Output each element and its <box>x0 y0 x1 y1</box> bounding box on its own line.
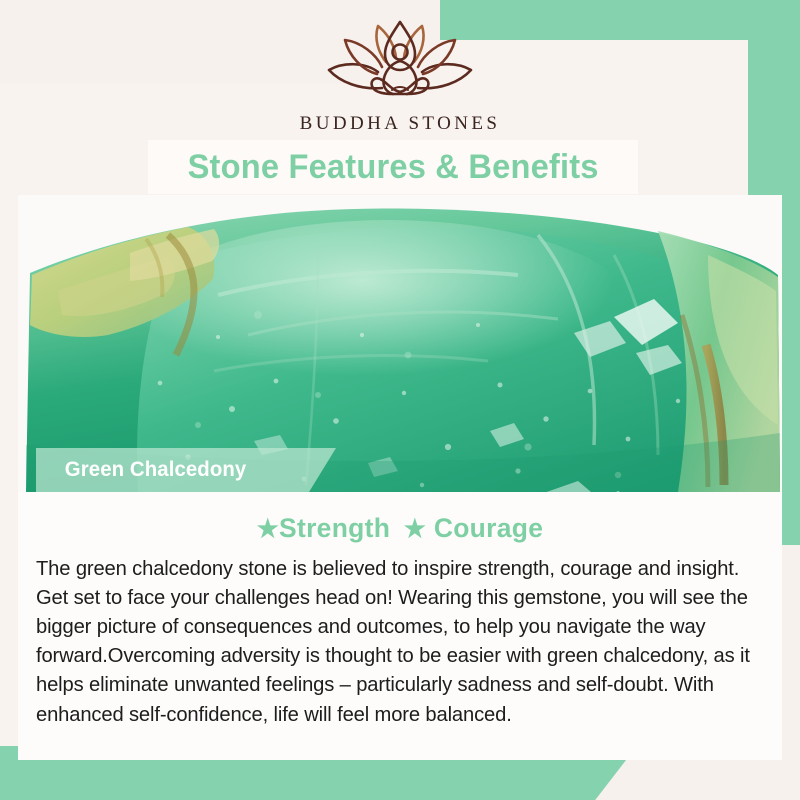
poster-header: BUDDHA STONES Stone Features & Benefits <box>0 0 800 196</box>
content-panel: ★Strength★ Courage The green chalcedony … <box>18 492 782 760</box>
photo-caption-strip: Green Chalcedony <box>36 448 336 492</box>
lotus-meditation-icon <box>320 18 480 110</box>
title-banner: Stone Features & Benefits <box>148 140 638 194</box>
page-title: Stone Features & Benefits <box>187 148 598 187</box>
stone-photo: Green Chalcedony <box>18 195 782 492</box>
keyword-strength: Strength <box>279 513 390 543</box>
stone-name-label: Green Chalcedony <box>65 458 247 482</box>
star-icon-courage: ★ <box>404 515 426 543</box>
keyword-courage: Courage <box>434 513 543 543</box>
star-icon-strength: ★ <box>257 515 279 543</box>
poster-root: BUDDHA STONES Stone Features & Benefits <box>0 0 800 800</box>
brand-logo: BUDDHA STONES <box>0 18 800 135</box>
keyword-headings: ★Strength★ Courage <box>26 492 775 544</box>
description-paragraph: The green chalcedony stone is believed t… <box>36 554 753 729</box>
stone-photo-art <box>18 195 782 492</box>
brand-name: BUDDHA STONES <box>0 113 800 135</box>
